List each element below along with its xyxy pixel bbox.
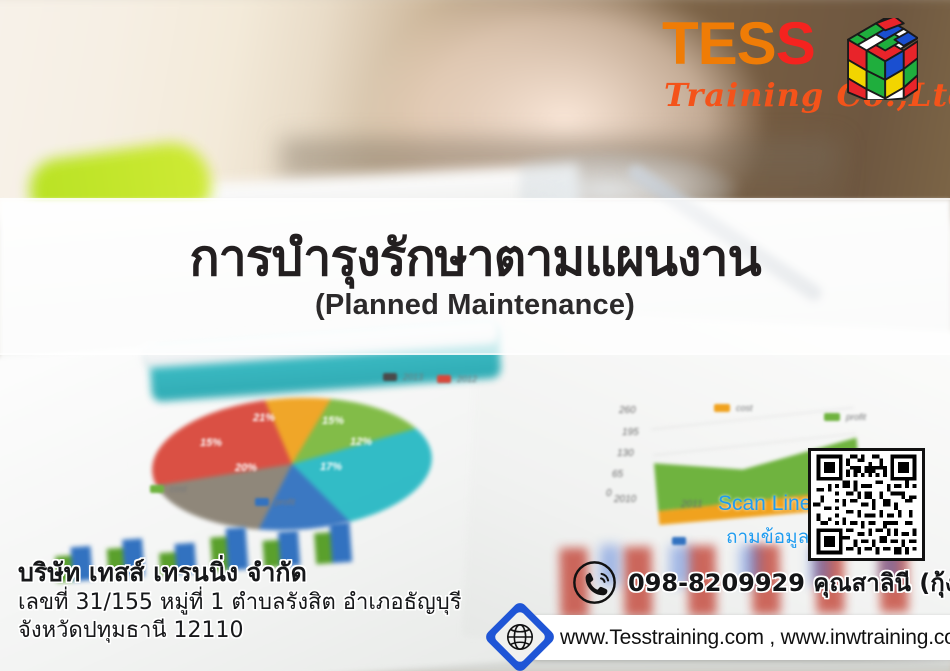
area-ytick-65: 65	[612, 469, 623, 480]
pie-label-5: 15%	[200, 437, 222, 449]
area-ytick-260: 260	[619, 405, 636, 416]
company-logo: TESS Training Co.,Ltd	[662, 6, 932, 126]
area-legend-chip-profit	[824, 413, 840, 421]
area-xtick-2010: 2010	[614, 494, 636, 505]
lower-legend-chip-dark	[383, 373, 397, 381]
area-legend-label-cost: cost	[736, 403, 753, 413]
qr-code-icon	[811, 451, 922, 558]
phone-contact[interactable]: 098-8209929 คุณสาลินี (กุ้ง)	[572, 560, 950, 605]
pie-label-3: 17%	[320, 461, 342, 473]
pie-legend-label-profit: profit	[275, 497, 295, 507]
address-line-street: เลขที่ 31/155 หมู่ที่ 1 ตำบลรังสิต อำเภอ…	[18, 589, 462, 618]
lower-legend-chip-blue	[672, 537, 686, 545]
company-name: บริษัท เทสส์ เทรนนิ่ง จำกัด	[18, 558, 462, 589]
scan-line-label: Scan Line	[718, 492, 811, 516]
pie-label-4: 20%	[235, 462, 257, 474]
logo-wordmark-s: S	[776, 10, 815, 77]
website-pill[interactable]: www.Tesstraining.com , www.inwtraining.c…	[516, 615, 950, 660]
area-ytick-0: 0	[606, 488, 612, 499]
page-title-english: (Planned Maintenance)	[315, 289, 635, 322]
logo-wordmark-tes: TES	[662, 10, 776, 77]
phone-icon	[572, 560, 617, 605]
website-urls: www.Tesstraining.com , www.inwtraining.c…	[560, 626, 950, 650]
lower-legend-label-2013: 2013	[403, 372, 423, 382]
area-legend-chip-cost	[714, 404, 730, 412]
phone-number: 098-8209929 คุณสาลินี (กุ้ง)	[628, 563, 950, 602]
pie-legend-chip-profit	[255, 498, 269, 506]
pie-label-1: 15%	[322, 415, 344, 427]
lower-legend-chip-red	[437, 375, 451, 383]
company-address: บริษัท เทสส์ เทรนนิ่ง จำกัด เลขที่ 31/15…	[18, 558, 462, 646]
page-title-thai: การบำรุงรักษาตามแผนงาน	[189, 232, 760, 285]
lower-legend-label-2012: 2012	[457, 374, 477, 384]
area-legend-label-profit: profit	[846, 412, 866, 422]
pie-legend-chip-cost	[150, 485, 164, 493]
promotional-poster: 21% 15% 12% 17% 20% 15% cost profit 260 …	[0, 0, 950, 671]
qr-code[interactable]	[808, 448, 925, 561]
pie-legend-label-cost: cost	[170, 484, 187, 494]
logo-wordmark: TESS	[662, 14, 815, 74]
area-xtick-2011: 2011	[681, 499, 703, 510]
rubiks-cube-icon	[840, 18, 918, 100]
globe-icon	[505, 622, 535, 652]
scan-line-sublabel: ถามข้อมูล	[726, 522, 809, 552]
area-ytick-130: 130	[617, 448, 634, 459]
area-ytick-195: 195	[622, 427, 639, 438]
pie-label-2: 12%	[350, 436, 372, 448]
title-band: การบำรุงรักษาตามแผนงาน (Planned Maintena…	[0, 198, 950, 355]
pie-label-0: 21%	[253, 412, 275, 424]
address-line-province: จังหวัดปทุมธานี 12110	[18, 617, 462, 646]
